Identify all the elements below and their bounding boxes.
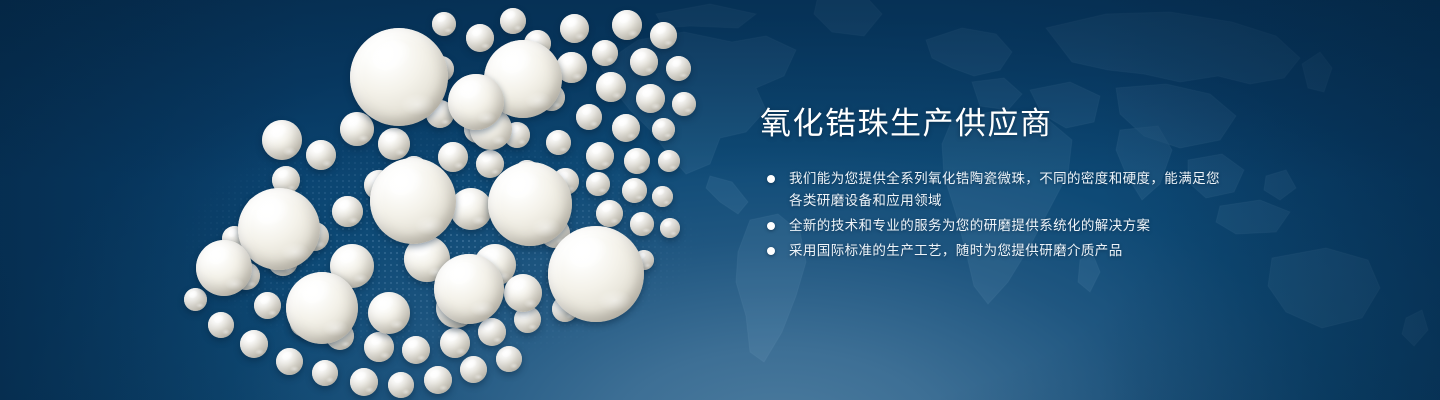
zirconia-beads-photo xyxy=(0,0,760,400)
bullet-dot-icon xyxy=(767,222,775,230)
bullet-dot-icon xyxy=(767,175,775,183)
list-item: 采用国际标准的生产工艺，随时为您提供研磨介质产品 xyxy=(760,240,1230,262)
promotional-banner: 氧化锆珠生产供应商 我们能为您提供全系列氧化锆陶瓷微珠，不同的密度和硬度，能满足… xyxy=(0,0,1440,400)
bullet-text: 采用国际标准的生产工艺，随时为您提供研磨介质产品 xyxy=(789,240,1230,262)
page-title: 氧化锆珠生产供应商 xyxy=(760,104,1230,144)
feature-bullet-list: 我们能为您提供全系列氧化锆陶瓷微珠，不同的密度和硬度，能满足您各类研磨设备和应用… xyxy=(760,168,1230,262)
bullet-text: 我们能为您提供全系列氧化锆陶瓷微珠，不同的密度和硬度，能满足您各类研磨设备和应用… xyxy=(789,168,1230,212)
list-item: 我们能为您提供全系列氧化锆陶瓷微珠，不同的密度和硬度，能满足您各类研磨设备和应用… xyxy=(760,168,1230,212)
bullet-dot-icon xyxy=(767,247,775,255)
bullet-text: 全新的技术和专业的服务为您的研磨提供系统化的解决方案 xyxy=(789,215,1230,237)
list-item: 全新的技术和专业的服务为您的研磨提供系统化的解决方案 xyxy=(760,215,1230,237)
banner-copy: 氧化锆珠生产供应商 我们能为您提供全系列氧化锆陶瓷微珠，不同的密度和硬度，能满足… xyxy=(760,104,1230,265)
